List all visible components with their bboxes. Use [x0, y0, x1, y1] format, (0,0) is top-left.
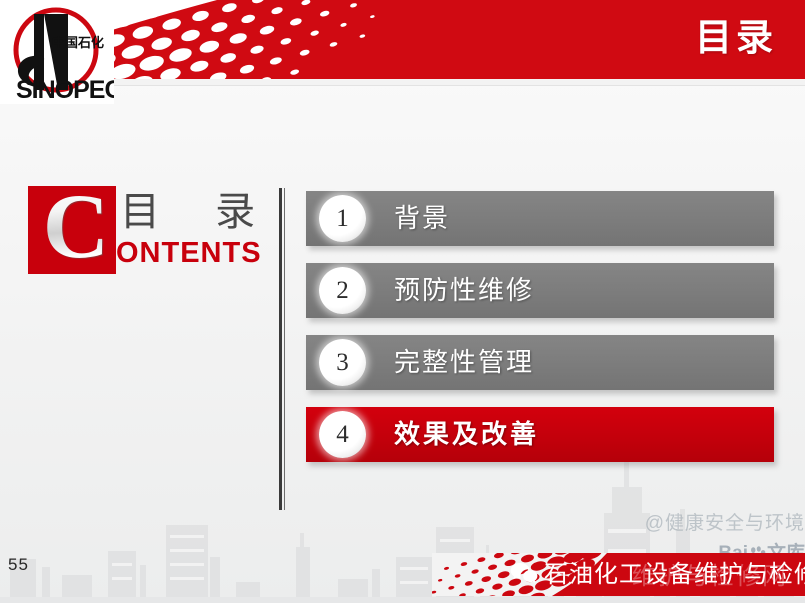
contents-menu: 1 背景 2 预防性维修 3 完整性管理 4 效果及改善	[306, 191, 774, 479]
sinopec-logo-icon: 中国石化 SINOPEC	[0, 0, 114, 104]
menu-item-3-number: 3	[319, 339, 366, 386]
menu-item-3[interactable]: 3 完整性管理	[306, 335, 774, 390]
svg-text:SINOPEC: SINOPEC	[16, 76, 114, 104]
vertical-divider	[279, 188, 286, 510]
contents-logo-block: C C 目 录 ONTENTS	[28, 186, 268, 278]
banner-text: 石油化工设备维护与检修网	[544, 553, 805, 596]
page-number: 55	[8, 555, 29, 575]
menu-item-1[interactable]: 1 背景	[306, 191, 774, 246]
menu-item-1-number: 1	[319, 195, 366, 242]
menu-item-4-active[interactable]: 4 效果及改善	[306, 407, 774, 462]
slide-canvas: 目录 中国石化 SINOPEC C C 目 录 ONTENTS 1 背景	[0, 0, 805, 603]
menu-item-1-label: 背景	[394, 191, 450, 246]
menu-item-4-number: 4	[319, 411, 366, 458]
divider-thick-line	[279, 188, 282, 510]
menu-item-4-label: 效果及改善	[394, 407, 539, 462]
bottom-banner: 维护与检修网 石油化工设备维护与检修网	[432, 553, 805, 596]
menu-item-3-label: 完整性管理	[394, 335, 534, 390]
svg-text:中国石化: 中国石化	[52, 35, 104, 50]
divider-thin-line	[284, 188, 285, 510]
sinopec-logo: 中国石化 SINOPEC	[0, 0, 114, 104]
watermark-hse: @健康安全与环境	[645, 508, 805, 535]
slide-bottom-edge	[0, 597, 805, 603]
slide-header: 目录	[0, 0, 805, 79]
contents-title-en: ONTENTS	[116, 234, 262, 272]
header-underline	[0, 79, 805, 86]
contents-title-cn: 目 录	[120, 186, 277, 238]
menu-item-2-number: 2	[319, 267, 366, 314]
wechat-icon	[510, 561, 538, 586]
page-title: 目录	[695, 14, 777, 62]
halftone-pattern-decoration	[112, 0, 402, 79]
menu-item-2[interactable]: 2 预防性维修	[306, 263, 774, 318]
contents-letter: C	[32, 176, 120, 276]
menu-item-2-label: 预防性维修	[394, 263, 534, 318]
